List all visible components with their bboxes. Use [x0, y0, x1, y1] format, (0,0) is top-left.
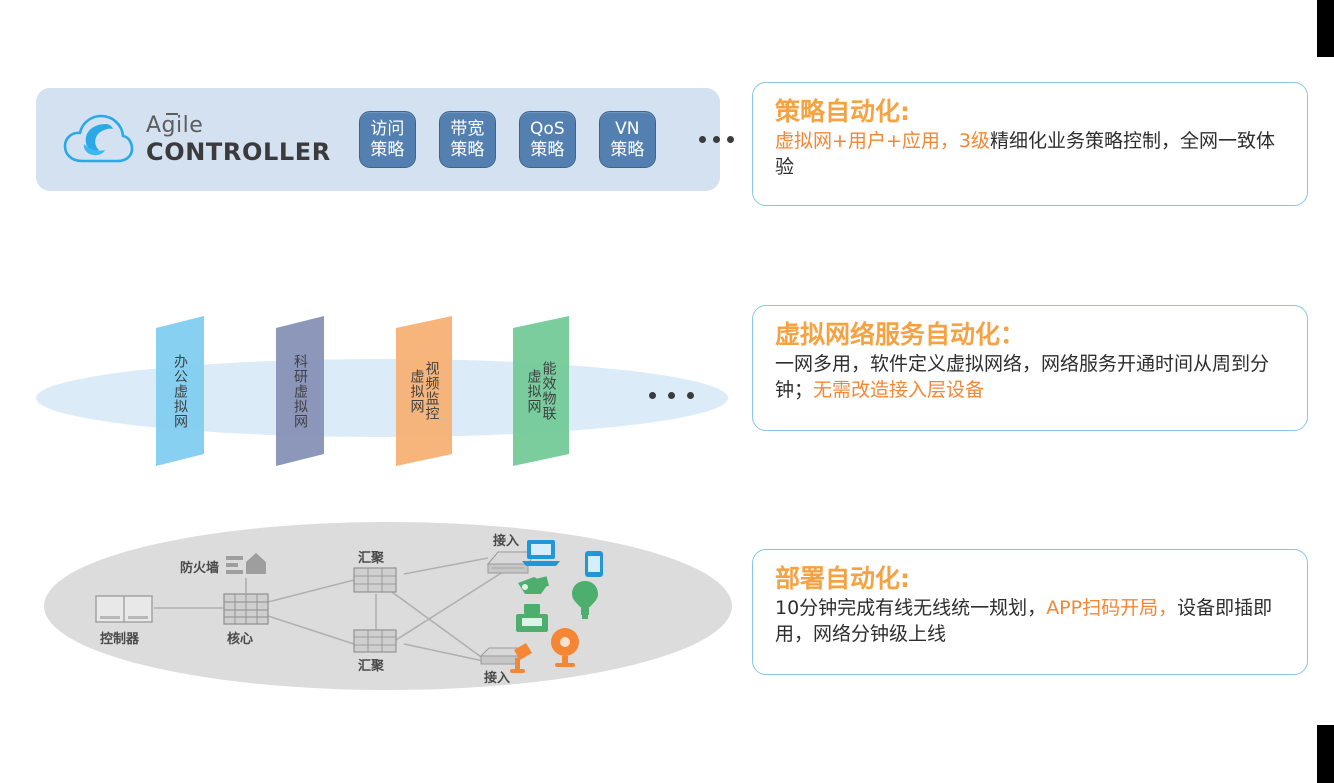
diagram-left-column: Agile CONTROLLER 访问 策略 带宽 策略 QoS 策略 VN 策… [0, 0, 740, 783]
endpoint-sensor-icon [518, 576, 549, 594]
callout-card-virtual-network-service-automation: 虚拟网络服务自动化： 一网多用，软件定义虚拟网络，网络服务开通时间从周到分钟；无… [752, 305, 1308, 431]
cloud-icon [62, 111, 134, 169]
more-policies-ellipsis-icon [699, 136, 734, 143]
endpoint-lamp-icon [572, 581, 598, 619]
card-body-highlight: 无需改造接入层设备 [813, 379, 984, 401]
macron-mark [166, 113, 178, 115]
network-backbone-ellipse [36, 359, 728, 437]
card-body: 10分钟完成有线无线统一规划，APP扫码开局，设备即插即用，网络分钟级上线 [775, 596, 1287, 647]
endpoint-camera-icon [551, 628, 579, 667]
logo-controller-text: CONTROLLER [146, 140, 331, 164]
policy-chip-qos[interactable]: QoS 策略 [519, 111, 576, 168]
topology-label-aggregation-top: 汇聚 [358, 547, 384, 566]
endpoint-printer-icon [516, 604, 548, 632]
topology-node-aggregation-bottom-icon [354, 630, 396, 652]
topology-canvas [36, 522, 736, 692]
card-title: 虚拟网络服务自动化： [775, 320, 1287, 350]
topology-label-core: 核心 [227, 628, 253, 647]
vn-slab-research[interactable]: 科研虚拟网 [276, 316, 324, 466]
card-body: 虚拟网+用户+应用，3级精细化业务策略控制，全网一致体验 [775, 129, 1287, 180]
policy-chip-group: 访问 策略 带宽 策略 QoS 策略 VN 策略 [359, 111, 734, 168]
vn-slab-energy-iot[interactable]: 能效物联 虚拟网 [513, 316, 569, 466]
vn-slab-label-col1: 视频监控 [425, 361, 439, 421]
network-topology-diagram: 控制器 防火墙 核心 汇聚 汇聚 接入 接入 [36, 522, 736, 692]
chip-line-2: 策略 [530, 140, 564, 160]
virtual-network-slabs: 办公虚拟网 科研虚拟网 视频监控 虚拟网 能效物联 虚拟网 [36, 300, 736, 496]
chip-line-2: 策略 [610, 140, 644, 160]
vn-slab-video-surveillance[interactable]: 视频监控 虚拟网 [396, 316, 452, 466]
card-body: 一网多用，软件定义虚拟网络，网络服务开通时间从周到分钟；无需改造接入层设备 [775, 352, 1287, 403]
decorative-corner-bar-bottom [1317, 725, 1334, 783]
card-title: 策略自动化: [775, 97, 1287, 127]
chip-line-1: 访问 [370, 119, 404, 139]
vn-slab-label-col2: 虚拟网 [527, 369, 541, 414]
agile-controller-bar: Agile CONTROLLER 访问 策略 带宽 策略 QoS 策略 VN 策… [36, 88, 720, 191]
agile-controller-logo: Agile CONTROLLER [62, 111, 331, 169]
topology-node-controller-icon [96, 596, 152, 622]
card-title: 部署自动化: [775, 564, 1287, 594]
topology-node-core-icon [224, 594, 268, 624]
callout-card-deployment-automation: 部署自动化: 10分钟完成有线无线统一规划，APP扫码开局，设备即插即用，网络分… [752, 549, 1308, 675]
topology-label-controller: 控制器 [100, 628, 139, 647]
chip-line-1: QoS [530, 119, 565, 139]
decorative-corner-bar-top [1317, 0, 1334, 57]
topology-label-access-bottom: 接入 [484, 667, 510, 686]
card-body-pre: 10分钟完成有线无线统一规划， [775, 597, 1046, 619]
endpoint-tablet-icon [585, 551, 603, 577]
callout-card-policy-automation: 策略自动化: 虚拟网+用户+应用，3级精细化业务策略控制，全网一致体验 [752, 82, 1308, 206]
topology-node-firewall-icon [226, 553, 266, 594]
chip-line-1: 带宽 [450, 119, 484, 139]
chip-line-2: 策略 [450, 140, 484, 160]
more-virtual-networks-ellipsis-icon [649, 392, 694, 399]
topology-label-firewall: 防火墙 [180, 557, 219, 576]
vn-slab-label-col1: 办公虚拟网 [173, 354, 187, 429]
vn-slab-label-col1: 科研虚拟网 [293, 354, 307, 429]
chip-line-1: VN [615, 119, 639, 139]
vn-slab-office[interactable]: 办公虚拟网 [156, 316, 204, 466]
vn-slab-label-col2: 虚拟网 [410, 369, 424, 414]
topology-node-aggregation-top-icon [354, 568, 396, 592]
policy-chip-bandwidth[interactable]: 带宽 策略 [439, 111, 496, 168]
logo-agile-text: Agile [146, 115, 203, 137]
card-body-highlight: 虚拟网+用户+应用，3级 [775, 130, 990, 152]
agile-controller-wordmark: Agile CONTROLLER [146, 115, 331, 164]
topology-label-aggregation-bottom: 汇聚 [358, 655, 384, 674]
chip-line-2: 策略 [370, 140, 404, 160]
policy-chip-access[interactable]: 访问 策略 [359, 111, 416, 168]
card-body-highlight: APP扫码开局， [1046, 597, 1177, 619]
policy-chip-vn[interactable]: VN 策略 [599, 111, 656, 168]
endpoint-laptop-icon [522, 540, 560, 566]
topology-label-access-top: 接入 [493, 530, 519, 549]
vn-slab-label-col1: 能效物联 [542, 361, 556, 421]
